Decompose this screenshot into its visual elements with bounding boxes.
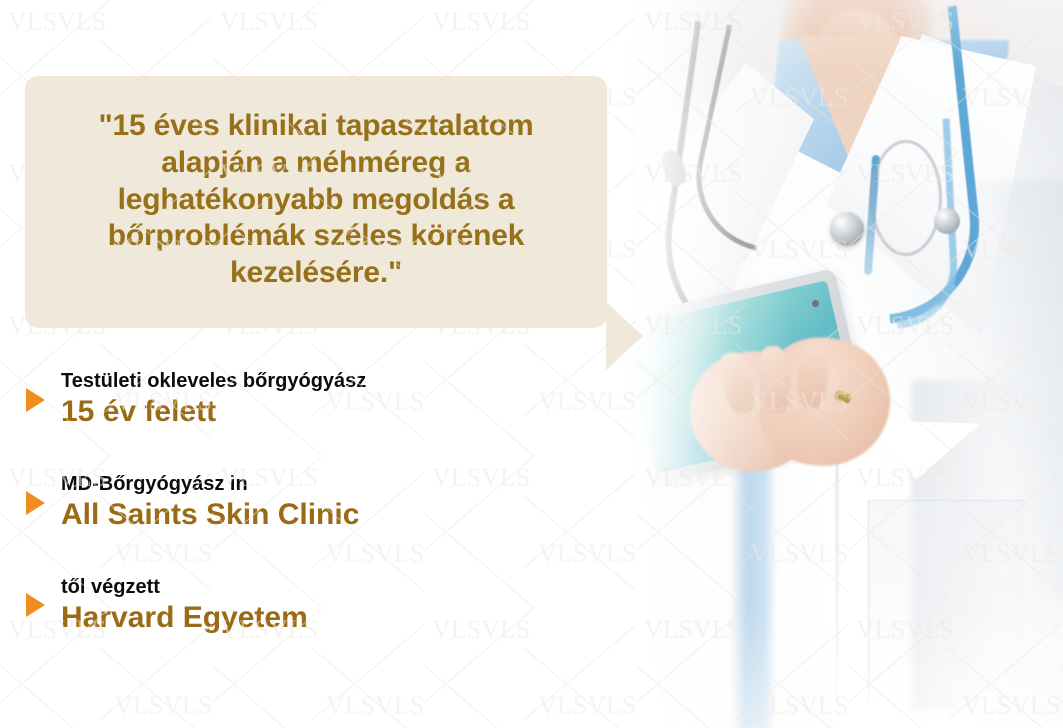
list-item: Testületi okleveles bőrgyógyász 15 év fe… [26, 370, 626, 430]
stethoscope-loop [870, 140, 942, 256]
triangle-right-icon [26, 388, 45, 412]
triangle-right-icon [26, 491, 45, 515]
credential-label: Testületi okleveles bőrgyógyász [61, 370, 626, 392]
credential-lines: MD-Bőrgyógyász in All Saints Skin Clinic [61, 473, 626, 533]
list-item: MD-Bőrgyógyász in All Saints Skin Clinic [26, 473, 626, 533]
quote-bubble-tail [606, 302, 643, 370]
triangle-right-icon [26, 593, 45, 617]
credential-value: Harvard Egyetem [61, 600, 626, 635]
doctor-photo [612, 0, 1063, 728]
list-item: től végzett Harvard Egyetem [26, 576, 626, 636]
credentials-list: Testületi okleveles bőrgyógyász 15 év fe… [26, 370, 626, 635]
credential-label: től végzett [61, 576, 626, 598]
quote-bubble: "15 éves klinikai tapasztalatom alapján … [25, 76, 607, 328]
quote-text: "15 éves klinikai tapasztalatom alapján … [47, 108, 585, 292]
stethoscope-chestpiece [830, 212, 864, 246]
credential-lines: től végzett Harvard Egyetem [61, 576, 626, 636]
stethoscope-chestpiece-secondary [934, 208, 960, 234]
coat-seam [836, 430, 838, 728]
credential-value: 15 év felett [61, 394, 626, 429]
credential-label: MD-Bőrgyógyász in [61, 473, 626, 495]
credential-value: All Saints Skin Clinic [61, 497, 626, 532]
coat-pocket [868, 500, 1025, 701]
slide-canvas: "15 éves klinikai tapasztalatom alapján … [0, 0, 1063, 728]
quote-bubble-body: "15 éves klinikai tapasztalatom alapján … [25, 76, 607, 328]
credential-lines: Testületi okleveles bőrgyógyász 15 év fe… [61, 370, 626, 430]
